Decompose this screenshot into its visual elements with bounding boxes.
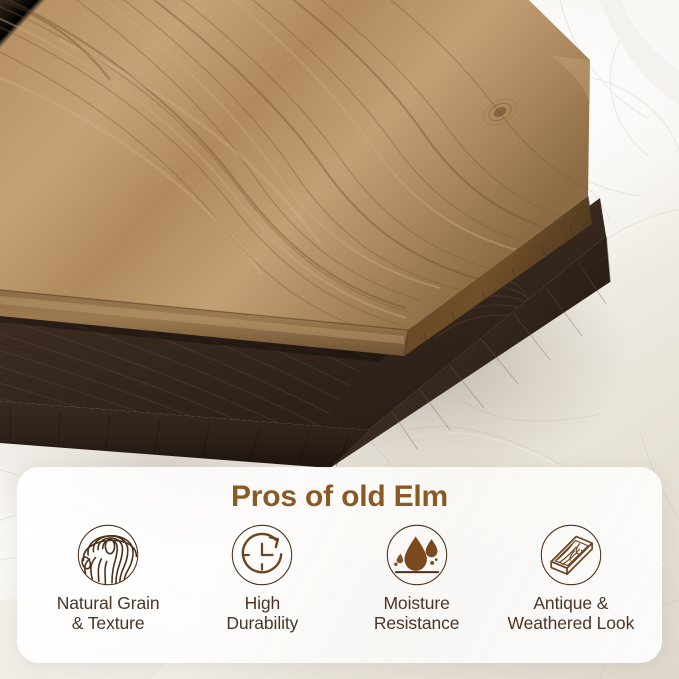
feature-item-moisture-resistance: Moisture Resistance — [340, 522, 494, 634]
wood-grain-icon — [75, 522, 141, 588]
feature-item-antique-weathered: Antique & Weathered Look — [494, 522, 648, 634]
feature-label: Moisture Resistance — [374, 593, 460, 634]
feature-list: Natural Grain & Texture — [17, 522, 662, 634]
feature-item-natural-grain: Natural Grain & Texture — [31, 522, 185, 634]
clock-arrow-icon — [229, 522, 295, 588]
feature-item-high-durability: High Durability — [185, 522, 339, 634]
wood-plank-icon — [538, 522, 604, 588]
feature-label: Antique & Weathered Look — [508, 593, 635, 634]
product-infographic: Pros of old Elm — [0, 0, 679, 679]
water-droplet-icon — [384, 522, 450, 588]
feature-label: High Durability — [226, 593, 298, 634]
feature-label: Natural Grain & Texture — [57, 593, 160, 634]
pros-info-card: Pros of old Elm — [17, 467, 662, 663]
card-title: Pros of old Elm — [231, 480, 448, 514]
